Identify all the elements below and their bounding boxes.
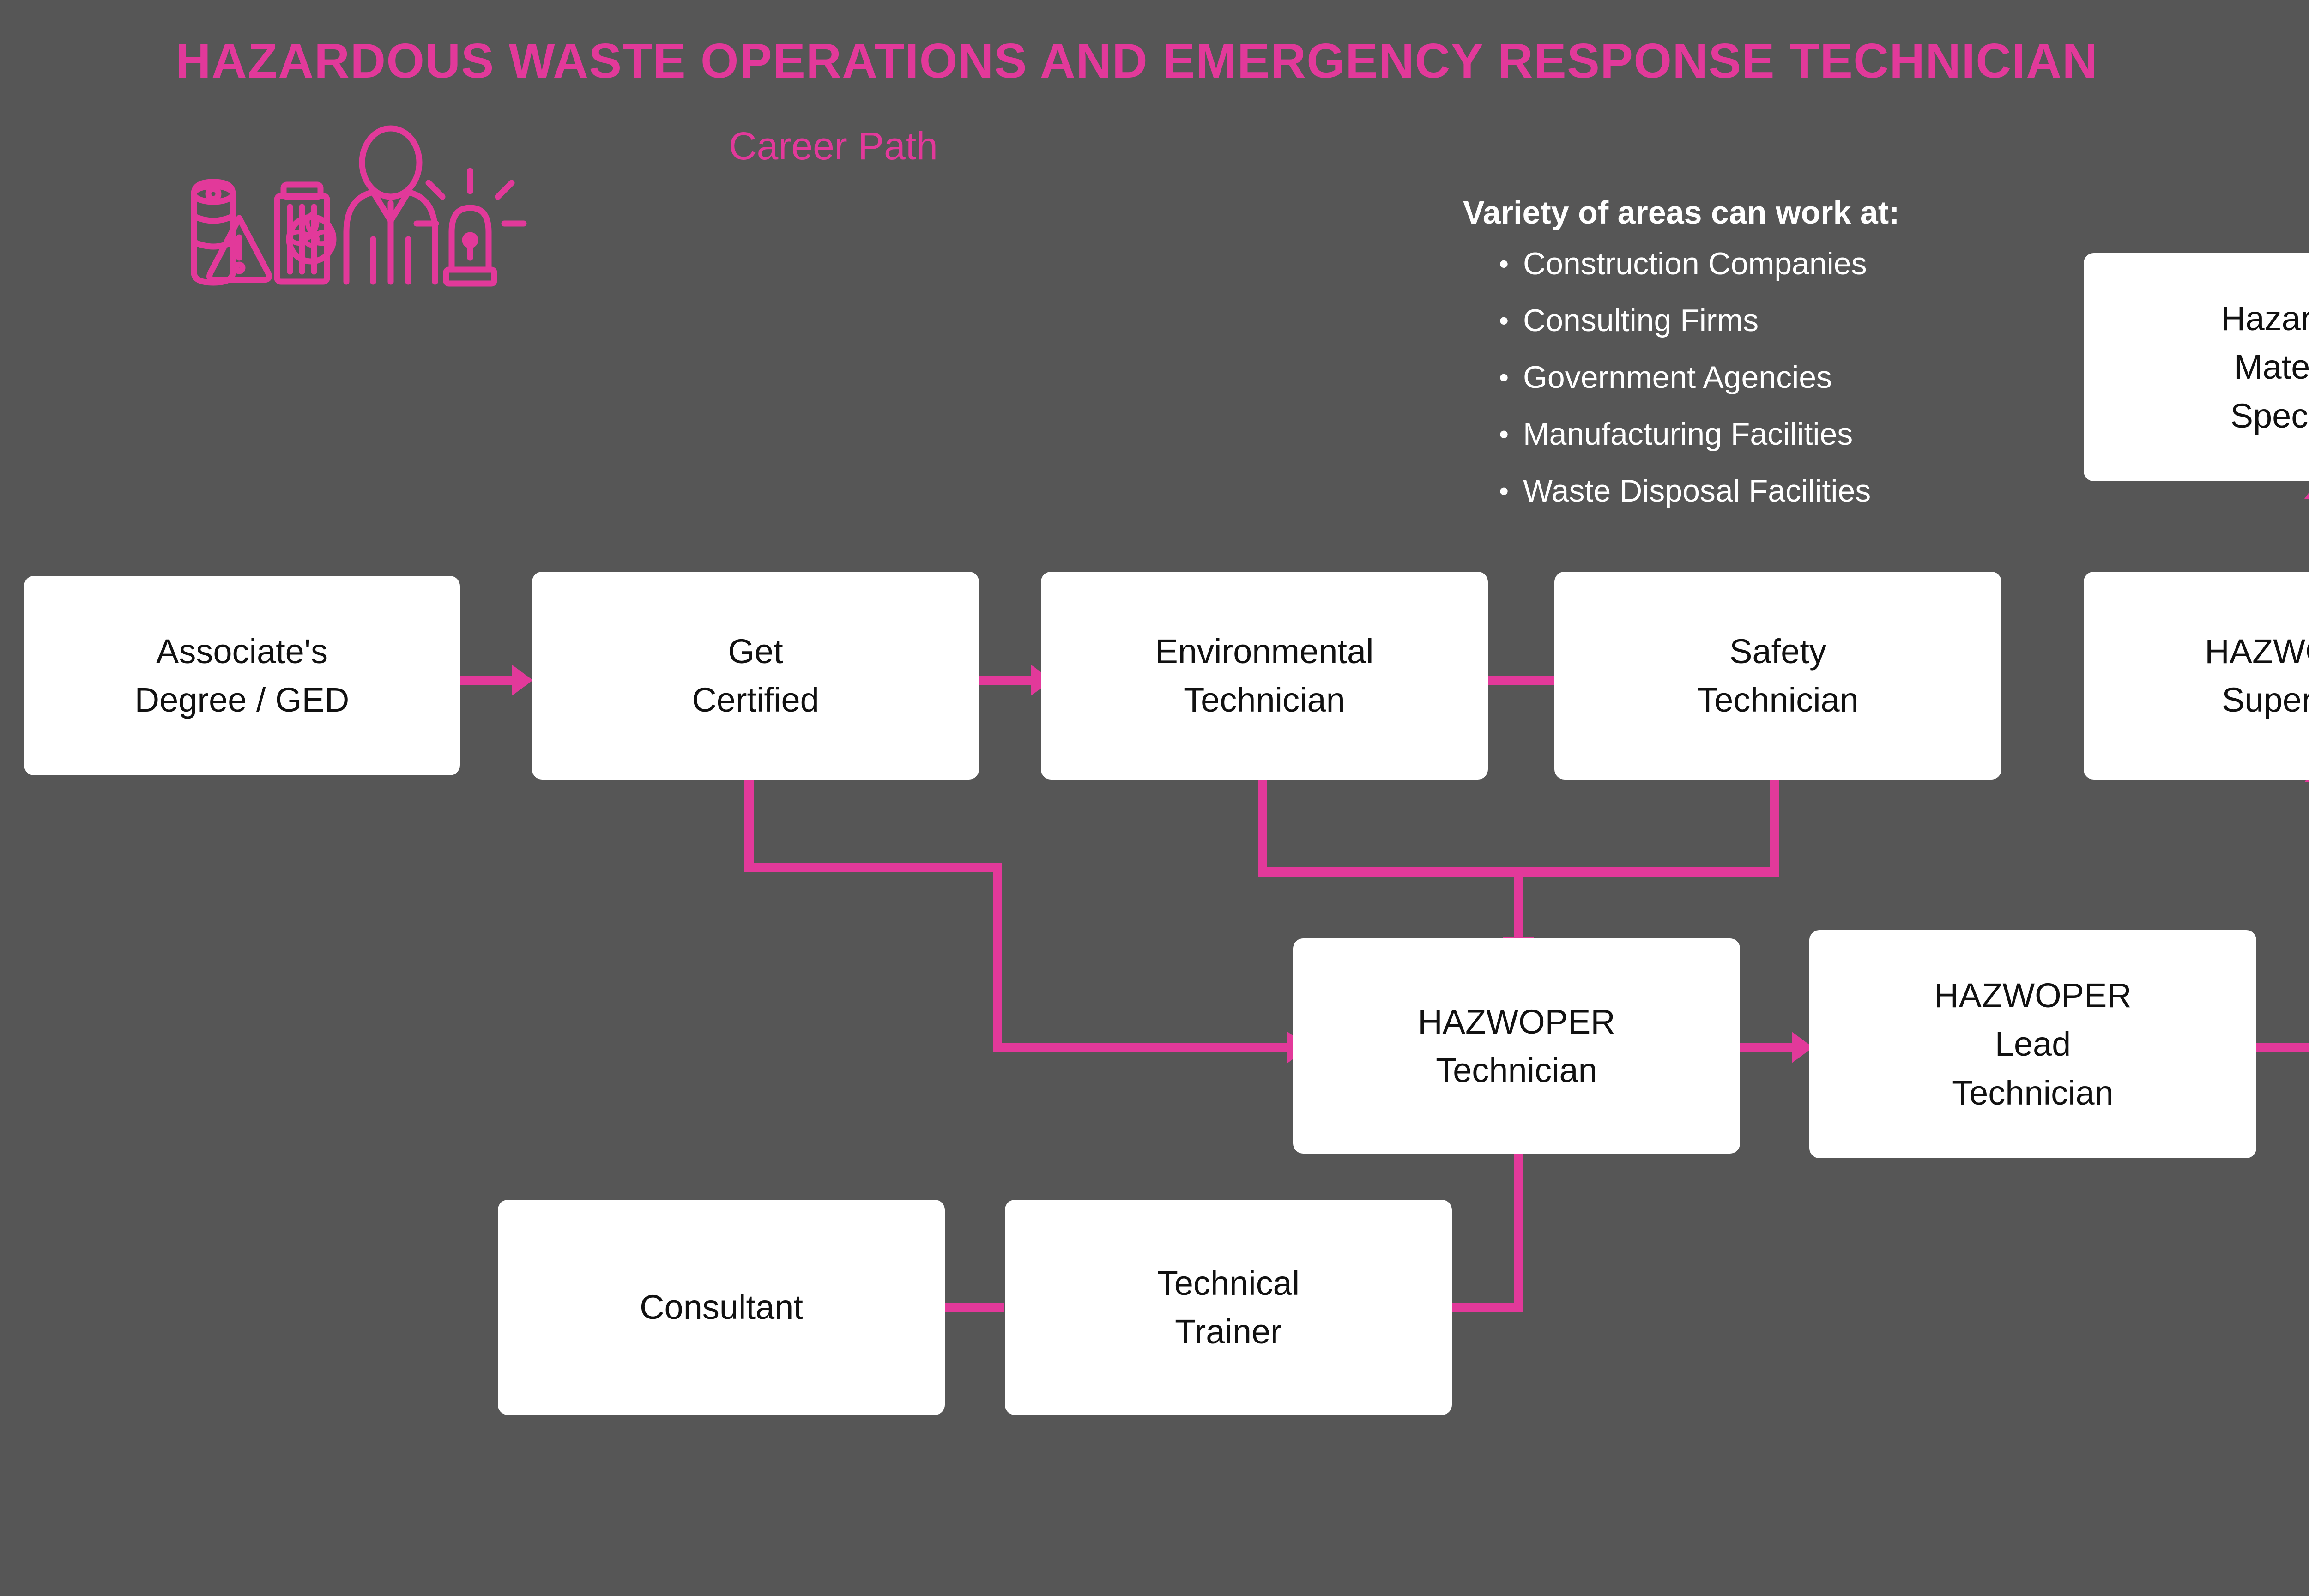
node-hazwoper-technician[interactable]: HAZWOPER Technician bbox=[1293, 938, 1740, 1154]
variety-heading: Variety of areas can work at: bbox=[1463, 194, 2183, 231]
worker-person-icon bbox=[346, 128, 435, 282]
node-technical-trainer[interactable]: Technical Trainer bbox=[1005, 1200, 1452, 1415]
connector-environmental-to-safety bbox=[1488, 676, 1554, 685]
career-path-infographic: HAZARDOUS WASTE OPERATIONS AND EMERGENCY… bbox=[0, 0, 2309, 1596]
connector-certified-elbow-v1 bbox=[744, 780, 754, 863]
node-label: HAZWOPER Technician bbox=[1418, 997, 1615, 1094]
connector-merge-stem bbox=[1514, 867, 1523, 941]
variety-list: Construction Companies Consulting Firms … bbox=[1463, 236, 2183, 520]
node-label: Hazardous Materials Specialist bbox=[2221, 294, 2309, 440]
arrowhead-right bbox=[512, 665, 533, 696]
connector-certified-elbow-h1 bbox=[744, 863, 1002, 872]
node-label: Technical Trainer bbox=[1157, 1259, 1300, 1356]
node-label: Safety Technician bbox=[1697, 627, 1859, 724]
node-label: HAZWOPER Supervisor bbox=[2205, 627, 2309, 724]
node-hazardous-materials-specialist[interactable]: Hazardous Materials Specialist bbox=[2084, 253, 2309, 481]
node-label: HAZWOPER Lead Technician bbox=[1934, 971, 2132, 1117]
node-associates-degree[interactable]: Associate's Degree / GED bbox=[24, 576, 460, 775]
connector-trainer-to-consultant bbox=[944, 1303, 1004, 1312]
node-label: Get Certified bbox=[692, 627, 819, 724]
node-get-certified[interactable]: Get Certified bbox=[532, 572, 979, 780]
connector-tech-to-trainer-h bbox=[1449, 1303, 1523, 1312]
node-environmental-technician[interactable]: Environmental Technician bbox=[1041, 572, 1488, 780]
connector-certified-to-environmental bbox=[979, 676, 1034, 685]
node-consultant[interactable]: Consultant bbox=[498, 1200, 945, 1415]
node-hazwoper-lead-technician[interactable]: HAZWOPER Lead Technician bbox=[1809, 930, 2256, 1158]
connector-certified-elbow-v2 bbox=[993, 863, 1002, 1047]
node-label: Associate's Degree / GED bbox=[135, 627, 350, 724]
node-label: Environmental Technician bbox=[1155, 627, 1373, 724]
connector-certified-elbow-h2 bbox=[993, 1043, 1290, 1052]
connector-tech-to-trainer-v bbox=[1514, 1154, 1523, 1312]
hazmat-worker-illustration bbox=[175, 105, 669, 304]
page-title: HAZARDOUS WASTE OPERATIONS AND EMERGENCY… bbox=[175, 33, 2098, 89]
connector-environmental-down bbox=[1258, 780, 1267, 867]
connector-associates-to-certified bbox=[460, 676, 514, 685]
page-subtitle: Career Path bbox=[729, 124, 938, 169]
node-hazwoper-supervisor[interactable]: HAZWOPER Supervisor bbox=[2084, 572, 2309, 780]
connector-lead-to-supervisor-h bbox=[2256, 1043, 2309, 1052]
connector-tech-to-lead bbox=[1740, 1043, 1795, 1052]
node-safety-technician[interactable]: Safety Technician bbox=[1554, 572, 2001, 780]
node-label: Consultant bbox=[640, 1283, 803, 1331]
variety-of-areas-block: Variety of areas can work at: Constructi… bbox=[1463, 194, 2183, 520]
connector-safety-down bbox=[1770, 780, 1779, 867]
biohazard-trash-bin-icon bbox=[277, 185, 333, 282]
